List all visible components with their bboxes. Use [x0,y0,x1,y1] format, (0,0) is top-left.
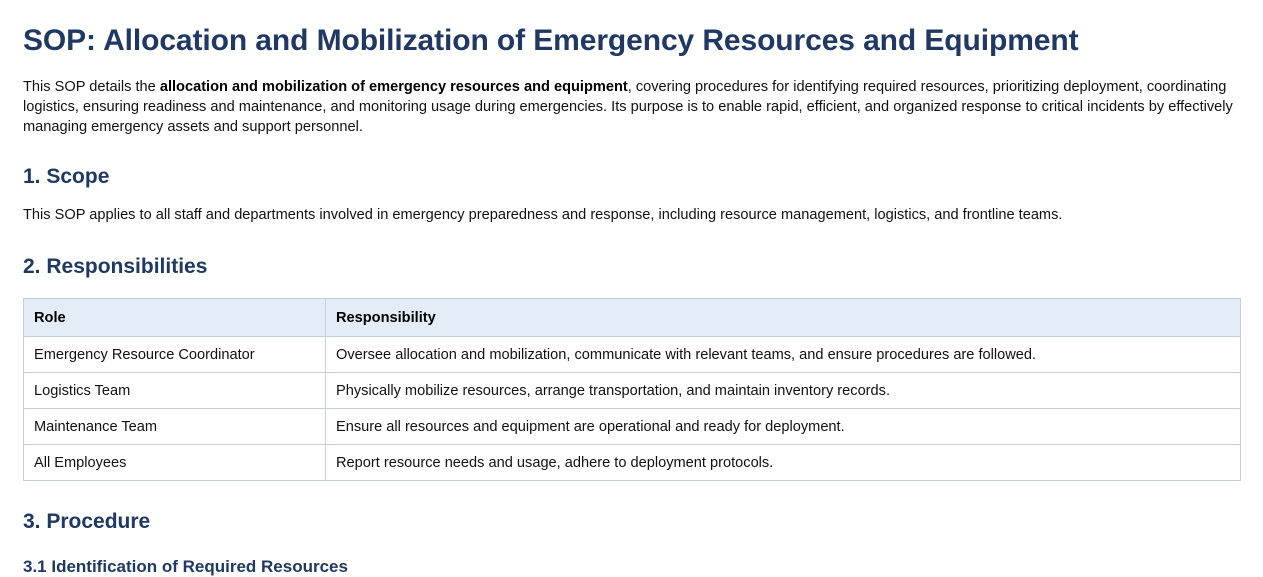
scope-body-text: This SOP applies to all staff and depart… [23,205,1240,225]
intro-paragraph: This SOP details the allocation and mobi… [23,77,1240,137]
column-header-role: Role [24,299,326,337]
section-heading-responsibilities: 2. Responsibilities [23,225,1240,279]
cell-role: Maintenance Team [24,409,326,445]
cell-role: All Employees [24,445,326,481]
section-heading-procedure: 3. Procedure [23,481,1240,534]
table-header-row: Role Responsibility [24,299,1241,337]
section-heading-scope: 1. Scope [23,137,1240,189]
page-title: SOP: Allocation and Mobilization of Emer… [23,0,1240,58]
table-row: All Employees Report resource needs and … [24,445,1241,481]
document-page: SOP: Allocation and Mobilization of Emer… [0,0,1263,566]
table-row: Maintenance Team Ensure all resources an… [24,409,1241,445]
column-header-responsibility: Responsibility [326,299,1241,337]
cell-role: Emergency Resource Coordinator [24,337,326,373]
responsibilities-table: Role Responsibility Emergency Resource C… [23,298,1241,481]
document-content: SOP: Allocation and Mobilization of Emer… [0,0,1263,577]
table-row: Logistics Team Physically mobilize resou… [24,373,1241,409]
cell-role: Logistics Team [24,373,326,409]
intro-lead-text: This SOP details the [23,79,160,95]
table-row: Emergency Resource Coordinator Oversee a… [24,337,1241,373]
cell-responsibility: Oversee allocation and mobilization, com… [326,337,1241,373]
cell-responsibility: Ensure all resources and equipment are o… [326,409,1241,445]
table-header: Role Responsibility [24,299,1241,337]
subsection-heading-identification: 3.1 Identification of Required Resources [23,534,1240,577]
cell-responsibility: Report resource needs and usage, adhere … [326,445,1241,481]
table-body: Emergency Resource Coordinator Oversee a… [24,337,1241,481]
intro-bold-phrase: allocation and mobilization of emergency… [160,79,628,95]
cell-responsibility: Physically mobilize resources, arrange t… [326,373,1241,409]
